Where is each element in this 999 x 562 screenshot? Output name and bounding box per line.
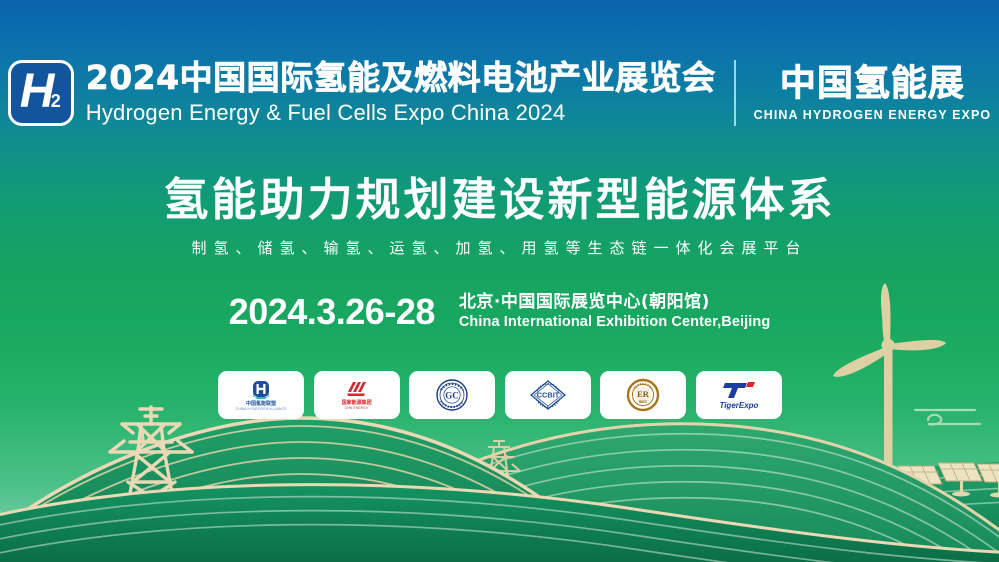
svg-text:BIEC: BIEC	[639, 400, 648, 404]
svg-text:ER: ER	[637, 389, 650, 399]
biec-seal-logo-icon: ER BIEC	[626, 378, 660, 412]
event-title-en: Hydrogen Energy & Fuel Cells Expo China …	[86, 100, 716, 126]
hydrogen-alliance-logo-icon	[251, 379, 271, 399]
sponsor-name-en: CHN ENERGY	[345, 406, 369, 410]
tigerexpo-logo-icon	[717, 380, 761, 400]
h2-logo-letter: H	[20, 68, 54, 116]
event-title-cn: 2024中国国际氢能及燃料电池产业展览会	[86, 60, 716, 97]
svg-text:CCBIT: CCBIT	[536, 391, 559, 400]
chn-energy-logo-icon	[345, 380, 369, 398]
sponsor-badge-hydrogen-alliance[interactable]: 中国氢能联盟 CHINA HYDROGEN ALLIANCE	[218, 371, 304, 419]
event-logo-row: H 2 2024中国国际氢能及燃料电池产业展览会 Hydrogen Energy…	[0, 60, 999, 126]
expo-banner: H	[0, 0, 999, 562]
event-info-row: 2024.3.26-28 北京·中国国际展览中心(朝阳馆) China Inte…	[0, 292, 999, 331]
sponsor-badge-tigerexpo[interactable]: TigerExpo	[696, 371, 782, 419]
svg-text:GC: GC	[445, 391, 459, 401]
sponsor-badge-ccbit[interactable]: CCBIT	[505, 371, 591, 419]
logo-divider	[734, 60, 736, 126]
sponsor-logo-row: 中国氢能联盟 CHINA HYDROGEN ALLIANCE 国家能源集团 CH…	[218, 371, 782, 419]
h2-logo-badge: H 2	[8, 60, 74, 126]
page-title: 氢能助力规划建设新型能源体系	[0, 174, 999, 226]
sponsor-name-en: CHINA HYDROGEN ALLIANCE	[236, 407, 287, 411]
event-brand-cn: 中国氢能展	[754, 64, 992, 104]
event-brand-en: CHINA HYDROGEN ENERGY EXPO	[754, 108, 992, 122]
event-venue: 北京·中国国际展览中心(朝阳馆) China International Exh…	[459, 292, 770, 331]
event-venue-cn: 北京·中国国际展览中心(朝阳馆)	[459, 292, 770, 312]
sponsor-badge-chn-energy[interactable]: 国家能源集团 CHN ENERGY	[314, 371, 400, 419]
event-brand-block: 中国氢能展 CHINA HYDROGEN ENERGY EXPO	[754, 64, 992, 122]
ccbit-seal-logo-icon: CCBIT	[529, 379, 567, 411]
page-subtitle: 制氢、储氢、输氢、运氢、加氢、用氢等生态链一体化会展平台	[0, 239, 999, 259]
sponsor-badge-csc[interactable]: GC	[409, 371, 495, 419]
event-venue-en: China International Exhibition Center,Be…	[459, 314, 770, 331]
event-date: 2024.3.26-28	[229, 294, 435, 330]
h2-logo-subscript: 2	[51, 92, 61, 110]
event-title-block: 2024中国国际氢能及燃料电池产业展览会 Hydrogen Energy & F…	[86, 60, 716, 126]
csc-seal-logo-icon: GC	[435, 378, 469, 412]
sponsor-badge-biec[interactable]: ER BIEC	[600, 371, 686, 419]
sponsor-name-en: TigerExpo	[719, 401, 758, 410]
cloud-swirl-icon	[915, 410, 980, 424]
